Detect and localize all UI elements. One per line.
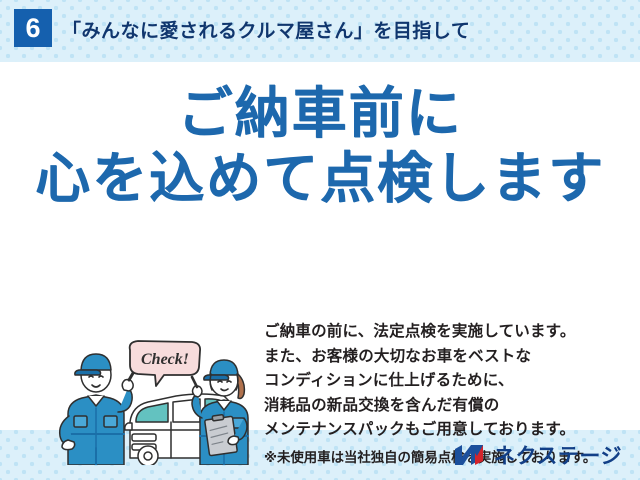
- header-title: 「みんなに愛されるクルマ屋さん」を目指して: [62, 16, 470, 43]
- check-bubble-text: Check!: [141, 351, 189, 368]
- body-line-1: ご納車の前に、法定点検を実施しています。: [264, 320, 624, 345]
- body-line-2: また、お客様の大切なお車をベストな: [264, 345, 624, 370]
- brand-name: ネクステージ: [494, 440, 622, 470]
- headline-line-2: 心を込めて点検します: [0, 149, 640, 208]
- body-line-3: コンディションに仕上げるために、: [264, 369, 624, 394]
- promo-banner: 6 「みんなに愛されるクルマ屋さん」を目指して ご納車前に 心を込めて点検します: [0, 0, 640, 480]
- nextage-n-mark-icon: [453, 443, 487, 467]
- brand-logo: ネクステージ: [453, 440, 622, 470]
- female-mechanic: [192, 360, 248, 465]
- section-number-badge: 6: [14, 9, 52, 47]
- mechanics-illustration: Check!: [52, 330, 262, 465]
- header: 6 「みんなに愛されるクルマ屋さん」を目指して: [0, 0, 640, 60]
- headline-line-1: ご納車前に: [0, 84, 640, 143]
- clipboard-icon: [205, 415, 238, 456]
- headline: ご納車前に 心を込めて点検します: [0, 84, 640, 209]
- body-line-4: 消耗品の新品交換を含んだ有償の: [264, 394, 624, 419]
- content-card: ご納車前に 心を込めて点検します: [0, 62, 640, 430]
- body-line-5: メンテナンスパックもご用意しております。: [264, 418, 624, 443]
